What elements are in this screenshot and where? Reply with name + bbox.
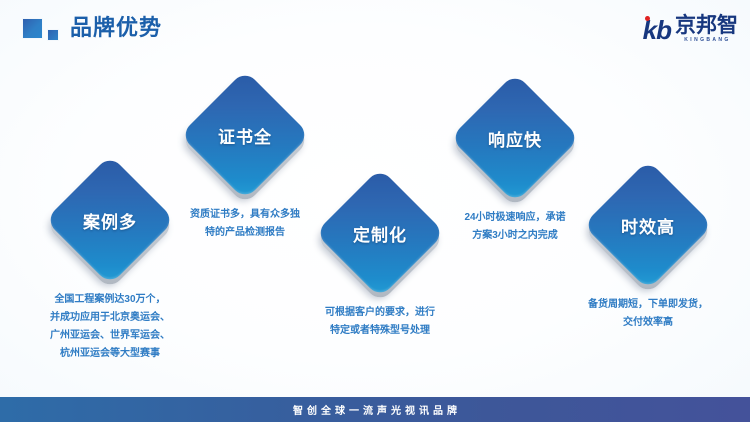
decorative-square-large-icon (22, 18, 43, 39)
decorative-square-small-icon (47, 29, 59, 41)
desc-line: 广州亚运会、世界军运会、 (20, 327, 200, 345)
desc-line: 交付效率高 (558, 314, 738, 332)
diamond-shape-4: 时效高 (583, 160, 713, 290)
brand-logo: kb 京邦智 KINGBANG (643, 13, 738, 43)
feature-description-4: 备货周期短，下单即发货， 交付效率高 (558, 296, 738, 332)
desc-line: 并成功应用于北京奥运会、 (20, 309, 200, 327)
feature-label-4: 时效高 (583, 160, 713, 290)
logo-name-en: KINGBANG (682, 38, 730, 43)
feature-description-0: 全国工程案例达30万个， 并成功应用于北京奥运会、 广州亚运会、世界军运会、 杭… (20, 291, 200, 363)
logo-red-dot-icon (645, 16, 650, 21)
footer-slogan: 智创全球一流声光视讯品牌 (289, 402, 461, 417)
desc-line: 全国工程案例达30万个， (20, 291, 200, 309)
desc-line: 杭州亚运会等大型赛事 (20, 345, 200, 363)
feature-description-2: 可根据客户的要求，进行 特定或者特殊型号处理 (290, 304, 470, 340)
desc-line: 可根据客户的要求，进行 (290, 304, 470, 322)
page-title: 品牌优势 (70, 14, 162, 42)
slide-canvas: 品牌优势 kb 京邦智 KINGBANG 案例多 全国工程案例达30万个， 并成… (0, 0, 750, 422)
logo-name-group: 京邦智 KINGBANG (675, 15, 738, 43)
slide-header: 品牌优势 kb 京邦智 KINGBANG (0, 0, 750, 56)
slide-footer: 智创全球一流声光视讯品牌 (0, 397, 750, 422)
logo-name-cn: 京邦智 (675, 15, 738, 37)
desc-line: 特定或者特殊型号处理 (290, 322, 470, 340)
desc-line: 备货周期短，下单即发货， (558, 296, 738, 314)
logo-mark-text: kb (643, 17, 671, 43)
feature-item-4[interactable]: 时效高 备货周期短，下单即发货， 交付效率高 (558, 160, 738, 332)
